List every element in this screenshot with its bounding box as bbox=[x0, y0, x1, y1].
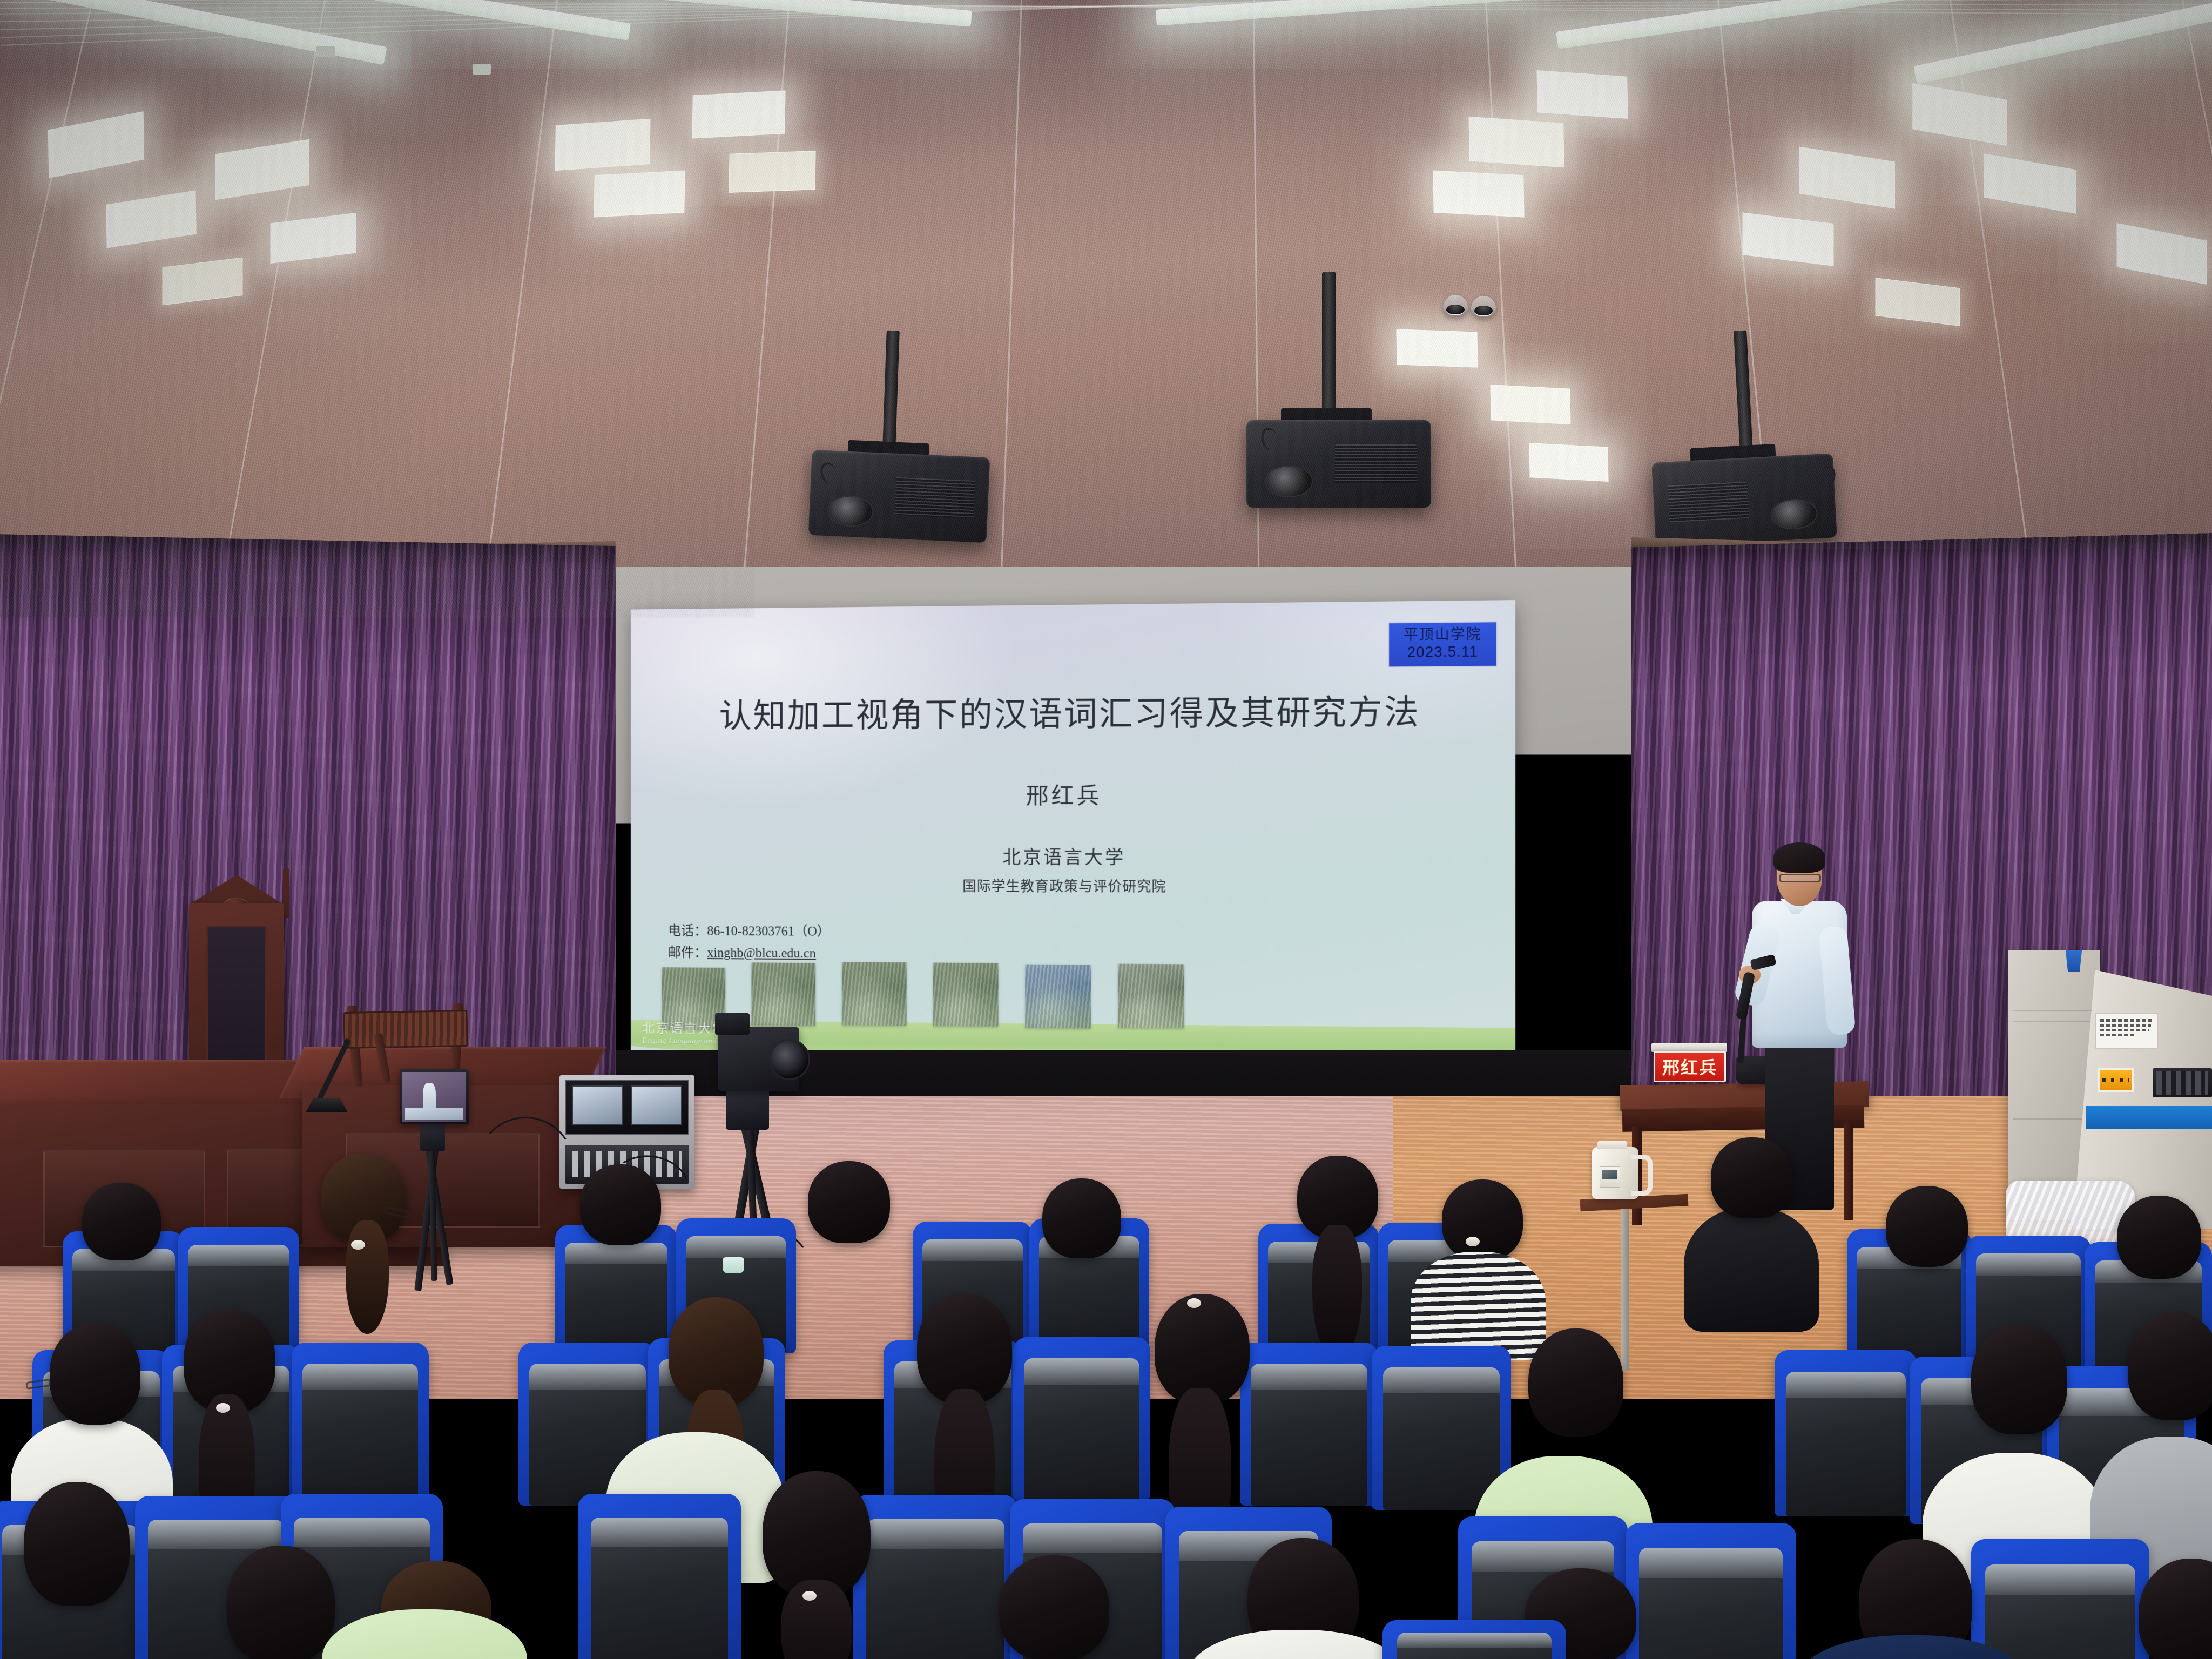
audience-head bbox=[1886, 1186, 1968, 1267]
audience-head bbox=[1528, 1328, 1623, 1437]
led-panel bbox=[692, 90, 785, 138]
lecture-hall-photo: 平顶山学院 2023.5.11 认知加工视角下的汉语词汇习得及其研究方法 邢红兵… bbox=[0, 0, 2212, 1659]
campus-thumbnail bbox=[933, 962, 999, 1026]
audience-shoulders bbox=[1411, 1252, 1546, 1360]
camera-viewfinder[interactable] bbox=[715, 1013, 750, 1035]
badge-institution: 平顶山学院 bbox=[1404, 626, 1482, 644]
led-panel bbox=[555, 119, 650, 171]
slide-contact-block: 电话：86-10-82303761（O） 邮件：xinghb@blcu.edu.… bbox=[668, 921, 830, 965]
switcher-preview-screen bbox=[565, 1080, 689, 1135]
slide-email-row: 邮件：xinghb@blcu.edu.cn bbox=[668, 942, 830, 965]
led-panel bbox=[1529, 443, 1609, 482]
slide-university: 北京语言大学 bbox=[631, 842, 1515, 870]
dome-camera-icon bbox=[1443, 295, 1468, 316]
presenter-nameplate: 邢红兵 bbox=[1654, 1051, 1726, 1082]
slide-institute: 国际学生教育政策与评价研究院 bbox=[631, 874, 1515, 896]
led-panel bbox=[1433, 171, 1524, 218]
podium-instruction-label bbox=[2095, 1013, 2158, 1049]
audience-ponytail bbox=[346, 1220, 389, 1334]
hair-scrunchie bbox=[802, 1591, 817, 1601]
tripod-head[interactable] bbox=[726, 1089, 769, 1130]
audience-head bbox=[1442, 1179, 1523, 1260]
led-panel bbox=[1468, 117, 1564, 168]
audience-head bbox=[999, 1555, 1109, 1659]
audience-seat[interactable] bbox=[1775, 1350, 1917, 1516]
projection-screen: 平顶山学院 2023.5.11 认知加工视角下的汉语词汇习得及其研究方法 邢红兵… bbox=[631, 600, 1515, 1063]
audience-head bbox=[763, 1471, 871, 1597]
audience-ponytail bbox=[1312, 1225, 1362, 1360]
hair-scrunchie bbox=[1187, 1298, 1201, 1308]
audience-seat[interactable] bbox=[1382, 1620, 1566, 1659]
electric-kettle bbox=[1592, 1147, 1638, 1199]
hair-scrunchie bbox=[1466, 1237, 1480, 1246]
audience-ponytail bbox=[781, 1580, 852, 1659]
podium-accent-stripe bbox=[2086, 1106, 2212, 1129]
presenter-hair bbox=[1773, 842, 1825, 873]
mint-cup bbox=[723, 1257, 744, 1273]
podium-breaker-panel[interactable] bbox=[2098, 1068, 2134, 1092]
campus-thumbnail bbox=[1118, 964, 1184, 1028]
phone-label: 电话： bbox=[668, 924, 707, 939]
dome-camera-icon bbox=[1471, 296, 1496, 318]
field-monitor-screen bbox=[402, 1072, 466, 1122]
phone-value: 86-10-82303761（O） bbox=[707, 924, 830, 939]
campus-thumbnail bbox=[842, 962, 907, 1026]
audience-seat[interactable] bbox=[853, 1495, 1017, 1659]
email-value[interactable]: xinghb@blcu.edu.cn bbox=[707, 946, 816, 961]
slide-organization: 北京语言大学 国际学生教育政策与评价研究院 bbox=[631, 842, 1515, 897]
slide-title: 认知加工视角下的汉语词汇习得及其研究方法 bbox=[631, 684, 1515, 737]
audience-head bbox=[808, 1161, 890, 1243]
ceiling bbox=[0, 0, 2212, 605]
field-monitor[interactable] bbox=[400, 1069, 469, 1124]
campus-thumbnail bbox=[1025, 965, 1091, 1029]
led-panel bbox=[594, 171, 685, 218]
campus-thumbnail bbox=[752, 962, 816, 1026]
audience-head bbox=[580, 1164, 661, 1245]
ceiling-projector bbox=[808, 450, 990, 543]
ceiling-projector bbox=[1651, 453, 1837, 547]
led-panel bbox=[1537, 70, 1628, 119]
audience-head bbox=[50, 1323, 140, 1425]
email-label: 邮件： bbox=[668, 946, 707, 960]
led-panel bbox=[1491, 385, 1571, 424]
audience-head bbox=[24, 1482, 130, 1606]
projector-mount-pole bbox=[1322, 272, 1336, 412]
camera-lens-icon bbox=[769, 1039, 810, 1080]
audience-head bbox=[2128, 1312, 2212, 1420]
staff-shoulders bbox=[1684, 1208, 1819, 1332]
led-panel bbox=[1396, 329, 1478, 367]
podium-mixer-deck[interactable] bbox=[2153, 1068, 2212, 1097]
audience-seat[interactable] bbox=[475, 1604, 653, 1659]
audience-head bbox=[1971, 1324, 2067, 1434]
audience-head bbox=[227, 1546, 335, 1659]
staff-head bbox=[1711, 1137, 1793, 1218]
presentation-slide: 平顶山学院 2023.5.11 认知加工视角下的汉语词汇习得及其研究方法 邢红兵… bbox=[631, 600, 1515, 1063]
audience-seat[interactable] bbox=[292, 1343, 429, 1505]
audience-head bbox=[82, 1183, 161, 1260]
audience-head bbox=[2117, 1196, 2201, 1279]
slide-phone-row: 电话：86-10-82303761（O） bbox=[668, 921, 830, 943]
presenter-glasses bbox=[1779, 874, 1821, 882]
audience-seat[interactable] bbox=[1013, 1337, 1150, 1500]
badge-date: 2023.5.11 bbox=[1404, 643, 1482, 662]
audience-head bbox=[917, 1294, 1012, 1404]
led-panel bbox=[729, 151, 815, 193]
kettle-label bbox=[1600, 1166, 1620, 1187]
audience-head bbox=[1042, 1178, 1121, 1258]
audience-seat[interactable] bbox=[1626, 1523, 1796, 1659]
slide-author: 邢红兵 bbox=[631, 777, 1515, 811]
audience-seat[interactable] bbox=[1971, 1539, 2149, 1659]
audience-seat[interactable] bbox=[1240, 1343, 1378, 1506]
slide-venue-badge: 平顶山学院 2023.5.11 bbox=[1388, 621, 1498, 667]
upturned-chair bbox=[343, 1010, 468, 1049]
hair-scrunchie bbox=[216, 1403, 230, 1413]
hair-scrunchie bbox=[351, 1240, 365, 1250]
